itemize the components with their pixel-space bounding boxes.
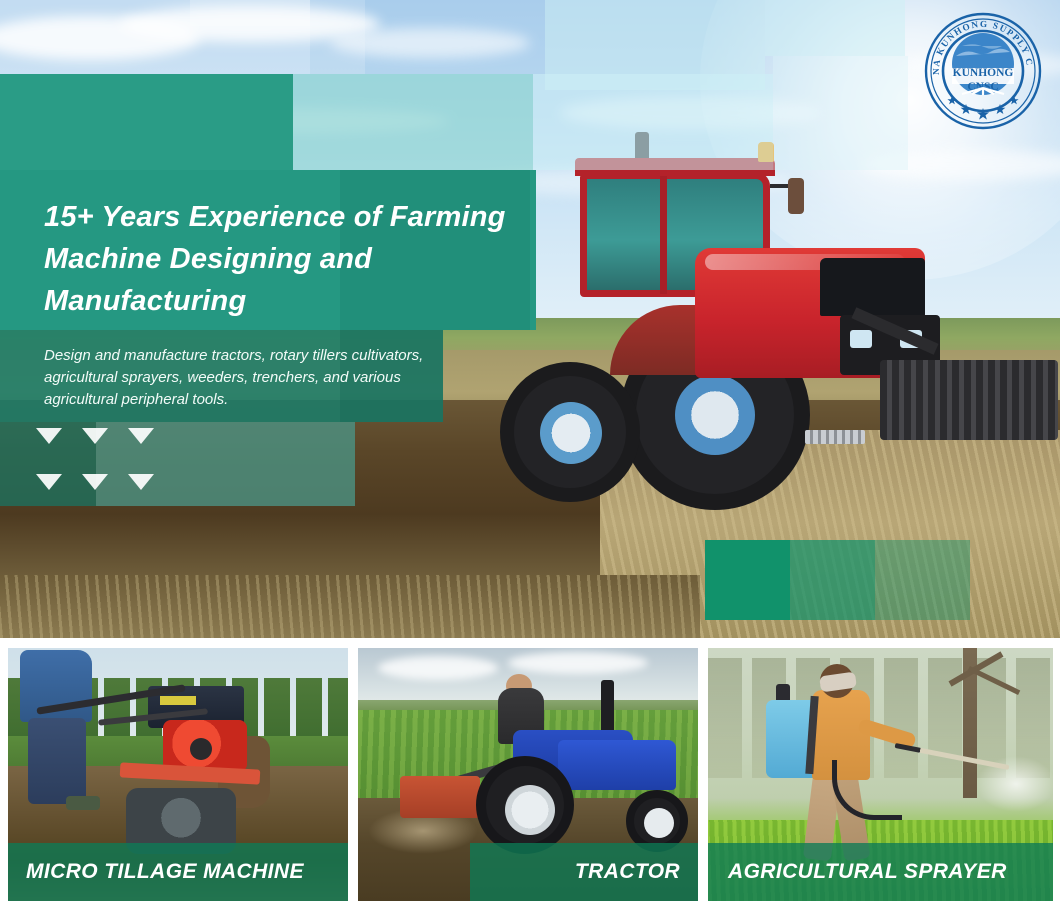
product-card-tractor[interactable]: TRACTOR — [358, 648, 698, 901]
card1-operator-legs — [28, 718, 86, 804]
tractor-front-rim — [540, 402, 602, 464]
accent-block — [790, 540, 875, 620]
chevron-down-icon — [128, 428, 154, 444]
tractor-front-implement — [880, 360, 1058, 440]
mosaic-block — [310, 0, 365, 74]
card1-operator-shoe — [66, 796, 100, 810]
card1-motor-hub — [190, 738, 212, 760]
mosaic-block — [190, 0, 310, 26]
cloud-icon — [378, 656, 498, 680]
tractor-rear-rim — [675, 375, 755, 455]
mosaic-block-accent — [0, 74, 293, 170]
chevron-down-icon — [36, 474, 62, 490]
card2-tractor-hood — [558, 740, 676, 790]
cloud-icon — [508, 652, 648, 674]
mosaic-block — [293, 74, 533, 170]
mosaic-block — [533, 74, 773, 170]
card2-orange-tiller — [400, 776, 480, 818]
tractor-mirror — [788, 178, 804, 214]
card2-caption-band: TRACTOR — [470, 843, 698, 901]
product-banner: 15+ Years Experience of Farming Machine … — [0, 0, 1060, 903]
card3-caption-band: AGRICULTURAL SPRAYER — [708, 843, 1053, 901]
card2-caption: TRACTOR — [575, 860, 680, 884]
hero-section: 15+ Years Experience of Farming Machine … — [0, 0, 1060, 638]
mosaic-block — [765, 0, 905, 56]
tractor-step — [805, 430, 865, 444]
card3-caption: AGRICULTURAL SPRAYER — [728, 860, 1007, 884]
product-card-agricultural-sprayer[interactable]: AGRICULTURAL SPRAYER — [708, 648, 1053, 901]
red-tractor-photo — [520, 130, 1060, 530]
accent-block — [875, 540, 970, 620]
card1-engine-label — [160, 696, 196, 705]
chevron-down-icon — [36, 428, 62, 444]
tractor-side-window — [820, 258, 925, 316]
product-card-micro-tillage-machine[interactable]: MICRO TILLAGE MACHINE — [8, 648, 348, 901]
company-logo: CHINA KUNHONG SUPPLY CHAIN KUNHONG CNSC — [922, 10, 1044, 132]
chevron-down-icon — [82, 474, 108, 490]
accent-block — [705, 540, 790, 620]
card1-caption-band: MICRO TILLAGE MACHINE — [8, 843, 348, 901]
tractor-cab-pillar — [660, 176, 667, 294]
card1-caption: MICRO TILLAGE MACHINE — [26, 860, 304, 884]
tractor-headlight-left — [850, 330, 872, 348]
arrow-decoration-grid — [36, 428, 146, 500]
card2-front-rim — [644, 808, 674, 838]
chevron-down-icon — [82, 428, 108, 444]
hero-headline: 15+ Years Experience of Farming Machine … — [44, 196, 524, 322]
hero-subcopy: Design and manufacture tractors, rotary … — [44, 345, 464, 411]
stubble-field-bottom — [0, 575, 700, 638]
chevron-down-icon — [128, 474, 154, 490]
card2-rear-rim — [505, 785, 555, 835]
product-card-row: MICRO TILLAGE MACHINE TRACTOR — [0, 646, 1060, 903]
logo-inner-line1: KUNHONG — [953, 67, 1014, 79]
mosaic-block — [773, 56, 908, 170]
